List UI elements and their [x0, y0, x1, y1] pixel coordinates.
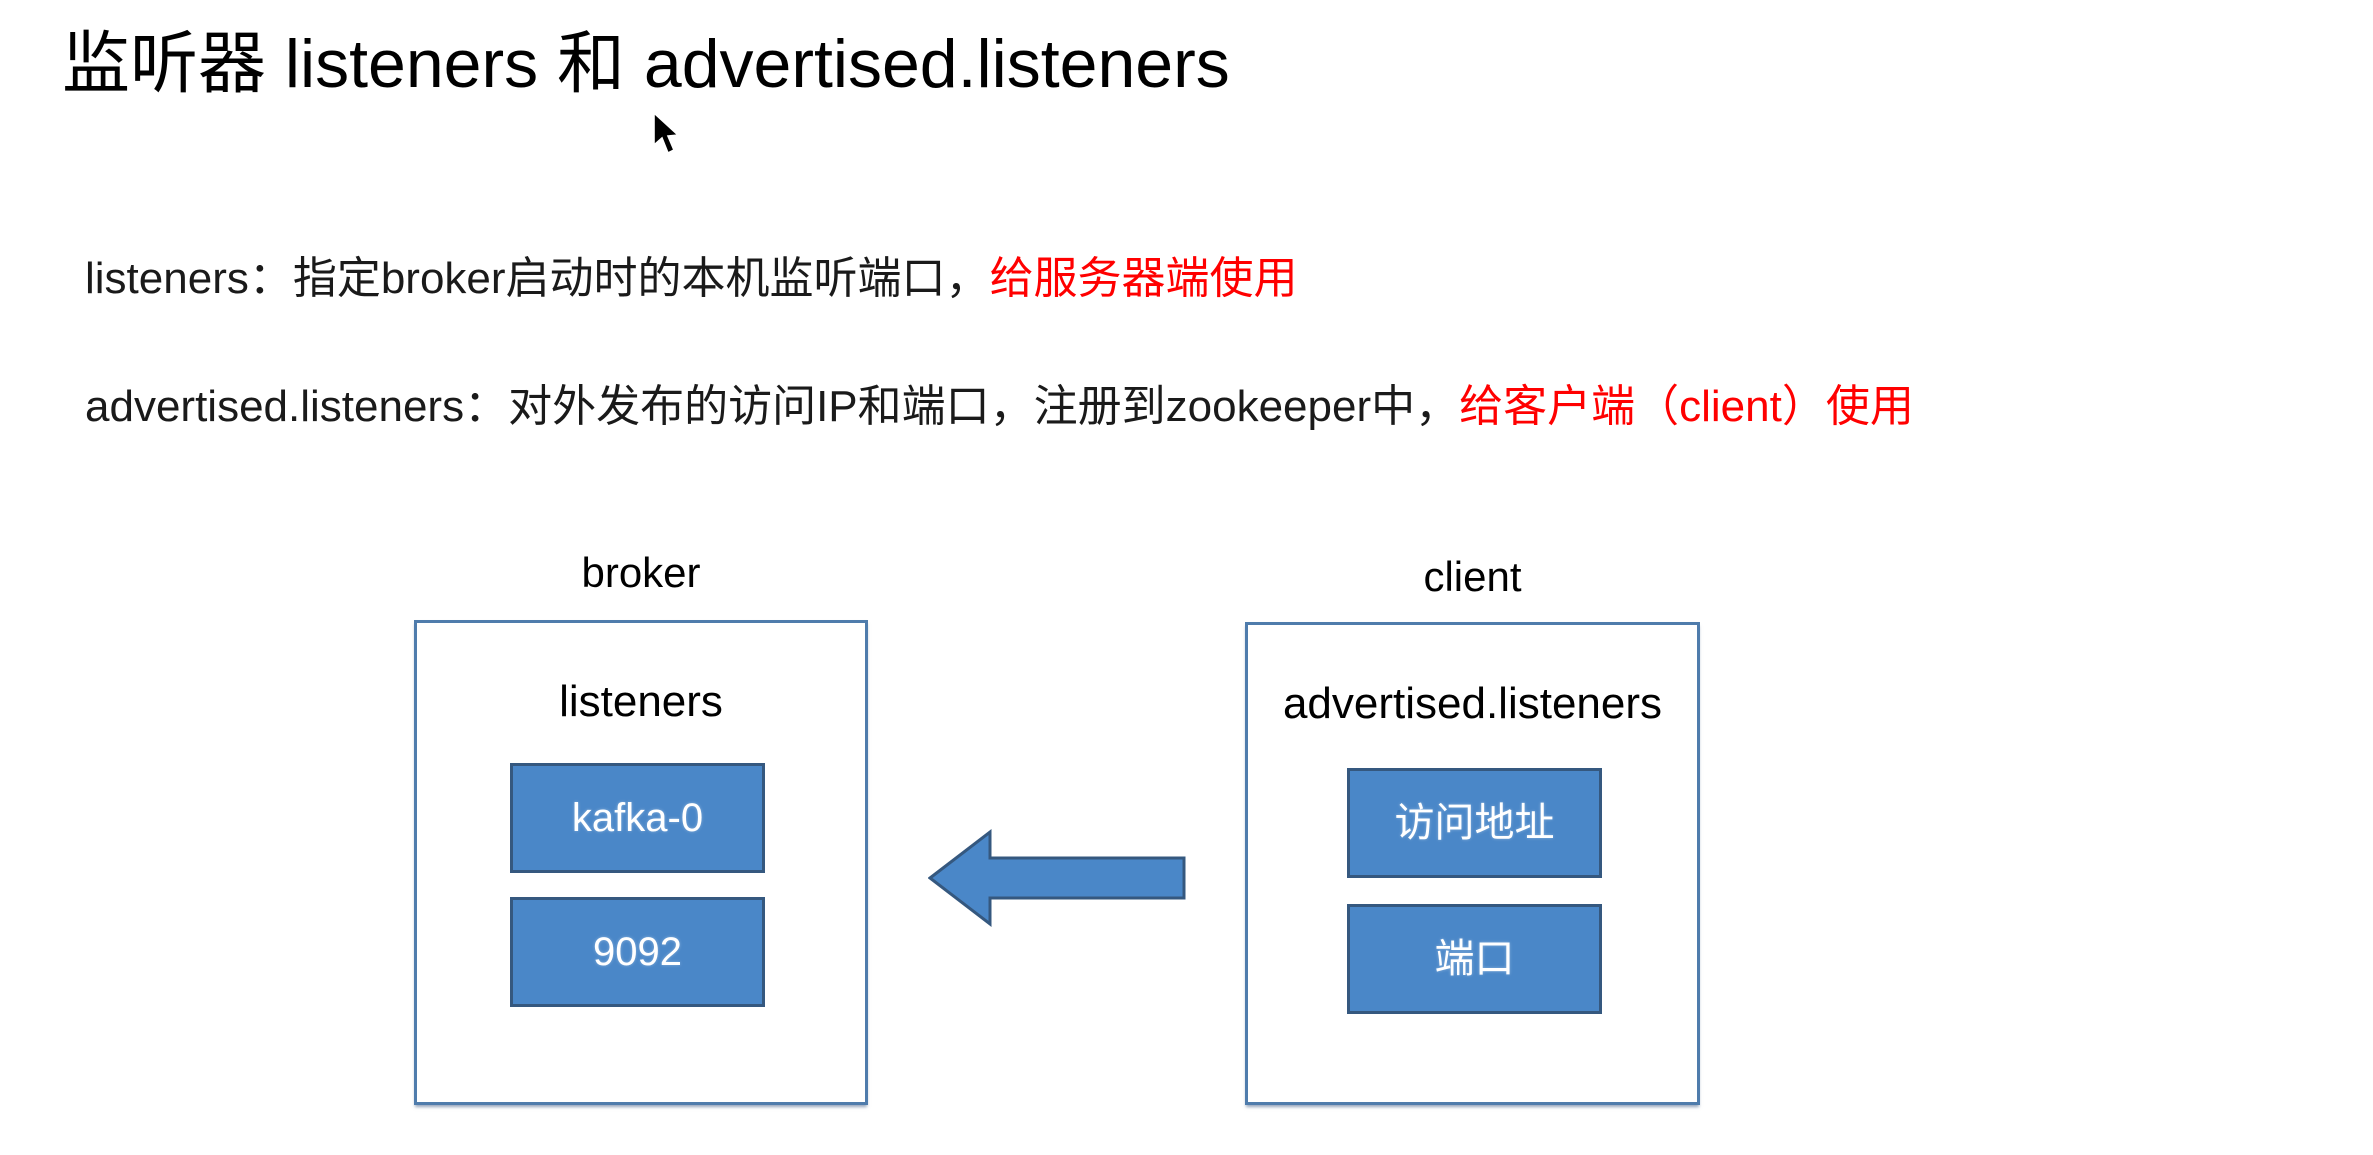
broker-caption: broker	[414, 548, 868, 598]
broker-chip-9092: 9092	[510, 897, 765, 1007]
flow-arrow-left-icon	[928, 818, 1186, 938]
broker-box-heading: listeners	[417, 675, 865, 729]
slide-canvas: 监听器 listeners 和 advertised.listeners lis…	[0, 0, 2373, 1155]
client-chip-port: 端口	[1347, 904, 1602, 1014]
client-box-heading: advertised.listeners	[1248, 677, 1697, 731]
client-caption: client	[1245, 552, 1700, 602]
architecture-diagram: broker listeners kafka-0 9092 client adv…	[0, 0, 2373, 1155]
client-chip-access-address: 访问地址	[1347, 768, 1602, 878]
broker-chip-kafka-0: kafka-0	[510, 763, 765, 873]
